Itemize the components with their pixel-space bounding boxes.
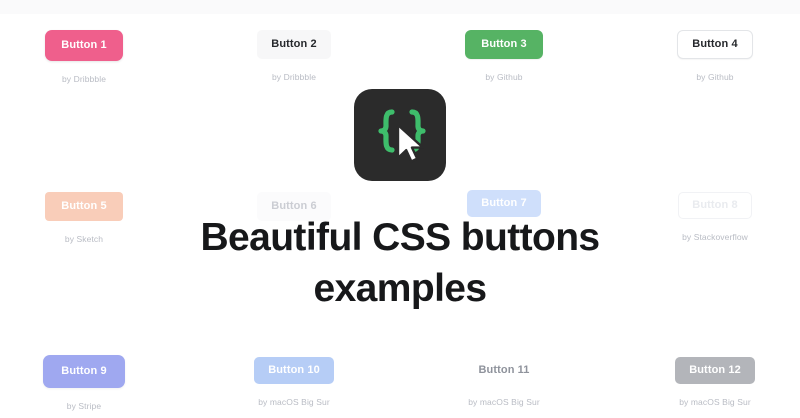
braces-cursor-icon — [365, 100, 435, 170]
button-cell-5: Button 5 by Sketch — [0, 192, 184, 244]
showcase-button-10[interactable]: Button 10 — [254, 357, 334, 384]
button-cell-2: Button 2 by Dribbble — [194, 30, 394, 82]
css-buttons-logo — [354, 89, 446, 181]
page-root: Button 1 by Dribbble Button 2 by Dribbbl… — [0, 0, 800, 418]
showcase-button-1[interactable]: Button 1 — [45, 30, 122, 61]
button-caption-5: by Sketch — [65, 234, 103, 244]
button-caption-11: by macOS Big Sur — [468, 397, 540, 407]
button-cell-4: Button 4 by Github — [615, 30, 800, 82]
showcase-button-4[interactable]: Button 4 — [677, 30, 752, 59]
button-cell-9: Button 9 by Stripe — [0, 355, 184, 411]
button-cell-11: Button 11 by macOS Big Sur — [404, 357, 604, 407]
button-cell-10: Button 10 by macOS Big Sur — [194, 357, 394, 407]
button-caption-3: by Github — [485, 72, 522, 82]
button-caption-9: by Stripe — [67, 401, 101, 411]
showcase-button-6[interactable]: Button 6 — [257, 192, 330, 221]
showcase-button-7[interactable]: Button 7 — [467, 190, 540, 217]
button-caption-10: by macOS Big Sur — [258, 397, 330, 407]
button-caption-12: by macOS Big Sur — [679, 397, 751, 407]
button-showcase-grid: Button 1 by Dribbble Button 2 by Dribbbl… — [0, 0, 800, 418]
button-cell-6: Button 6 — [194, 192, 394, 234]
button-caption-2: by Dribbble — [272, 72, 316, 82]
showcase-button-11[interactable]: Button 11 — [465, 357, 542, 384]
button-caption-8: by Stackoverflow — [682, 232, 748, 242]
showcase-button-5[interactable]: Button 5 — [45, 192, 122, 221]
showcase-button-9[interactable]: Button 9 — [43, 355, 124, 388]
button-cell-3: Button 3 by Github — [404, 30, 604, 82]
showcase-button-3[interactable]: Button 3 — [465, 30, 542, 59]
button-cell-8: Button 8 by Stackoverflow — [615, 192, 800, 242]
button-cell-7: Button 7 — [404, 190, 604, 230]
showcase-button-2[interactable]: Button 2 — [257, 30, 330, 59]
button-cell-1: Button 1 by Dribbble — [0, 30, 184, 84]
showcase-button-12[interactable]: Button 12 — [675, 357, 755, 384]
showcase-button-8[interactable]: Button 8 — [678, 192, 751, 219]
button-caption-4: by Github — [696, 72, 733, 82]
button-cell-12: Button 12 by macOS Big Sur — [615, 357, 800, 407]
button-caption-1: by Dribbble — [62, 74, 106, 84]
